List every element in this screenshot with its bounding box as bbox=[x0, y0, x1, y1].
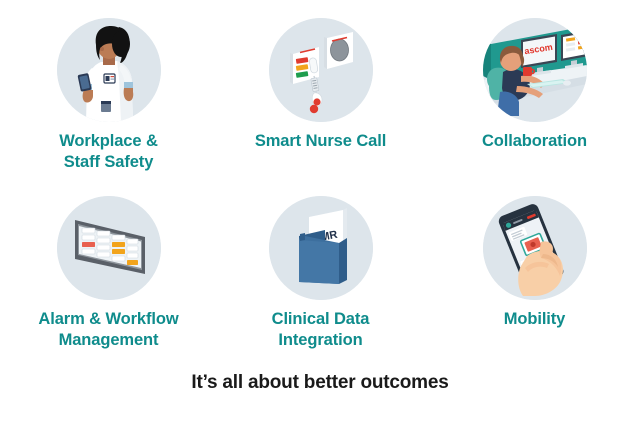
feature-grid-slide: Workplace & Staff Safety bbox=[0, 0, 640, 427]
feature-label-line-2: Management bbox=[2, 330, 215, 351]
feature-tile-label: Clinical Data Integration bbox=[214, 309, 427, 351]
feature-tile-alarm-workflow-management[interactable]: Alarm & Workflow Management bbox=[2, 196, 215, 351]
feature-tile-workplace-staff-safety[interactable]: Workplace & Staff Safety bbox=[2, 18, 215, 173]
feature-tile-label: Collaboration bbox=[428, 131, 640, 152]
tagline: It’s all about better outcomes bbox=[0, 372, 640, 394]
nurse-with-smartphone-icon bbox=[57, 18, 161, 122]
feature-label-line-2: Integration bbox=[214, 330, 427, 351]
feature-label-line-2: Staff Safety bbox=[2, 152, 215, 173]
alarm-dashboard-screen-icon bbox=[57, 196, 161, 300]
feature-label-line-1: Smart Nurse Call bbox=[214, 131, 427, 152]
feature-tile-label: Smart Nurse Call bbox=[214, 131, 427, 152]
feature-tile-label: Mobility bbox=[428, 309, 640, 330]
feature-label-line-1: Alarm & Workflow bbox=[2, 309, 215, 330]
emr-folder-icon: EMR bbox=[269, 196, 373, 300]
feature-tile-mobility[interactable]: Mobility bbox=[428, 196, 640, 330]
feature-label-line-1: Workplace & bbox=[2, 131, 215, 152]
feature-label-line-1: Mobility bbox=[428, 309, 640, 330]
feature-tile-label: Workplace & Staff Safety bbox=[2, 131, 215, 173]
feature-tile-clinical-data-integration[interactable]: EMR Clinical Data Integration bbox=[214, 196, 427, 351]
feature-tile-collaboration[interactable]: ascom bbox=[428, 18, 640, 152]
feature-label-line-1: Collaboration bbox=[428, 131, 640, 152]
desk-worker-dual-monitors-icon: ascom bbox=[483, 18, 587, 122]
feature-grid: Workplace & Staff Safety bbox=[0, 0, 640, 370]
hand-holding-phone-icon bbox=[483, 196, 587, 300]
feature-label-line-1: Clinical Data bbox=[214, 309, 427, 330]
nurse-call-panel-icon bbox=[269, 18, 373, 122]
feature-tile-smart-nurse-call[interactable]: Smart Nurse Call bbox=[214, 18, 427, 152]
feature-tile-label: Alarm & Workflow Management bbox=[2, 309, 215, 351]
